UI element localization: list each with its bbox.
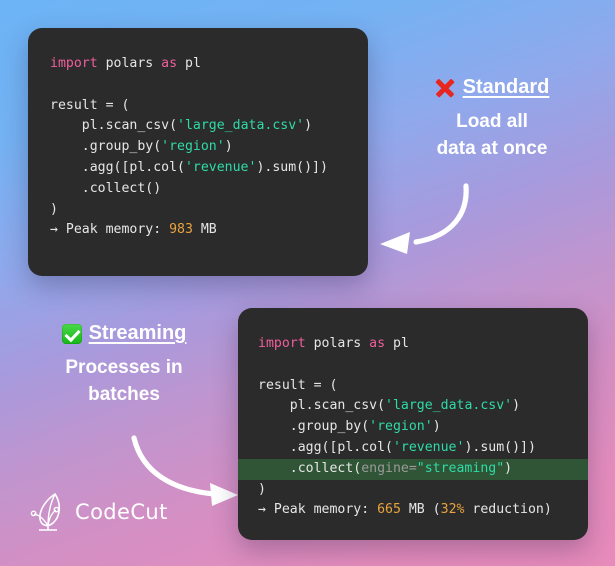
code-token-plain: MB ( bbox=[401, 502, 441, 517]
standard-pointer-arrow-icon bbox=[360, 180, 500, 262]
code-token-plain: pl.scan_csv( bbox=[50, 118, 177, 133]
code-token-plain: .group_by( bbox=[50, 139, 161, 154]
code-line: import polars as pl bbox=[258, 334, 568, 355]
code-line: ) bbox=[258, 480, 568, 501]
code-token-plain: .agg([pl.col( bbox=[258, 440, 393, 455]
code-token-str: 'region' bbox=[369, 419, 433, 434]
code-token-str: 'large_data.csv' bbox=[177, 118, 304, 133]
code-token-plain: ) bbox=[225, 139, 233, 154]
code-token-kw: as bbox=[161, 56, 177, 71]
code-token-plain: ).sum()]) bbox=[256, 160, 327, 175]
code-token-plain: → Peak memory: bbox=[50, 222, 169, 237]
code-line: import polars as pl bbox=[50, 54, 348, 75]
code-token-plain: ) bbox=[504, 461, 512, 476]
code-token-str: 'revenue' bbox=[185, 160, 256, 175]
code-token-arg: engine= bbox=[361, 461, 417, 476]
standard-annotation-subtitle: Load all data at once bbox=[386, 108, 598, 162]
code-line bbox=[50, 75, 348, 96]
code-line: result = ( bbox=[50, 96, 348, 117]
standard-code-block: import polars as pl result = ( pl.scan_c… bbox=[28, 28, 368, 276]
streaming-code-body: import polars as pl result = ( pl.scan_c… bbox=[238, 308, 588, 521]
code-token-plain: pl bbox=[385, 336, 409, 351]
code-line: .agg([pl.col('revenue').sum()]) bbox=[258, 438, 568, 459]
code-token-kw: as bbox=[369, 336, 385, 351]
code-line: pl.scan_csv('large_data.csv') bbox=[50, 116, 348, 137]
code-token-num: 983 bbox=[169, 222, 193, 237]
code-token-kw: import bbox=[258, 336, 306, 351]
code-token-plain: reduction) bbox=[464, 502, 551, 517]
code-line: .group_by('region') bbox=[258, 417, 568, 438]
codecut-wordmark: CodeCut bbox=[75, 500, 168, 524]
code-line: .collect() bbox=[50, 179, 348, 200]
standard-annotation-heading: Standard bbox=[463, 76, 550, 99]
code-token-str: "streaming" bbox=[417, 461, 504, 476]
codecut-leaf-icon bbox=[30, 492, 66, 532]
streaming-annotation-heading-row: Streaming bbox=[18, 322, 230, 345]
code-line: → Peak memory: 665 MB (32% reduction) bbox=[258, 500, 568, 521]
standard-annotation-subtitle-line2: data at once bbox=[386, 135, 598, 162]
code-token-num: 665 bbox=[377, 502, 401, 517]
code-token-plain: MB bbox=[193, 222, 217, 237]
code-line bbox=[258, 355, 568, 376]
code-token-str: 'large_data.csv' bbox=[385, 398, 512, 413]
code-token-plain: polars bbox=[306, 336, 370, 351]
code-token-plain: pl.scan_csv( bbox=[258, 398, 385, 413]
code-line: .agg([pl.col('revenue').sum()]) bbox=[50, 158, 348, 179]
standard-annotation: Standard Load all data at once bbox=[386, 76, 598, 162]
code-token-plain: ) bbox=[50, 202, 58, 217]
streaming-code-block: import polars as pl result = ( pl.scan_c… bbox=[238, 308, 588, 540]
code-token-plain: → Peak memory: bbox=[258, 502, 377, 517]
cross-mark-icon bbox=[435, 77, 456, 98]
code-line: pl.scan_csv('large_data.csv') bbox=[258, 396, 568, 417]
code-token-plain: ) bbox=[433, 419, 441, 434]
code-token-plain: ).sum()]) bbox=[464, 440, 535, 455]
codecut-logo: CodeCut bbox=[30, 492, 168, 532]
standard-annotation-subtitle-line1: Load all bbox=[386, 108, 598, 135]
code-token-plain: polars bbox=[98, 56, 162, 71]
code-line: ) bbox=[50, 200, 348, 221]
standard-annotation-heading-row: Standard bbox=[386, 76, 598, 99]
streaming-annotation-subtitle-line2: batches bbox=[18, 381, 230, 408]
code-token-plain: .collect( bbox=[258, 461, 361, 476]
code-token-plain: .group_by( bbox=[258, 419, 369, 434]
code-line: result = ( bbox=[258, 376, 568, 397]
check-mark-button-icon bbox=[62, 324, 82, 344]
code-token-plain: ) bbox=[258, 482, 266, 497]
slide-canvas: import polars as pl result = ( pl.scan_c… bbox=[0, 0, 615, 566]
streaming-annotation: Streaming Processes in batches bbox=[18, 322, 230, 408]
code-line-highlighted: .collect(engine="streaming") bbox=[238, 459, 588, 480]
code-token-plain: .agg([pl.col( bbox=[50, 160, 185, 175]
code-token-plain: result = ( bbox=[50, 98, 129, 113]
standard-code-body: import polars as pl result = ( pl.scan_c… bbox=[28, 28, 368, 241]
code-token-plain: .collect() bbox=[50, 181, 161, 196]
code-token-str: 'region' bbox=[161, 139, 225, 154]
code-token-plain: result = ( bbox=[258, 378, 337, 393]
code-token-plain: ) bbox=[512, 398, 520, 413]
streaming-annotation-subtitle: Processes in batches bbox=[18, 354, 230, 408]
code-token-num: 32% bbox=[441, 502, 465, 517]
streaming-annotation-subtitle-line1: Processes in bbox=[18, 354, 230, 381]
code-line: .group_by('region') bbox=[50, 137, 348, 158]
code-token-kw: import bbox=[50, 56, 98, 71]
code-token-plain: pl bbox=[177, 56, 201, 71]
code-token-str: 'revenue' bbox=[393, 440, 464, 455]
streaming-annotation-heading: Streaming bbox=[89, 322, 187, 345]
code-token-plain: ) bbox=[304, 118, 312, 133]
code-line: → Peak memory: 983 MB bbox=[50, 220, 348, 241]
